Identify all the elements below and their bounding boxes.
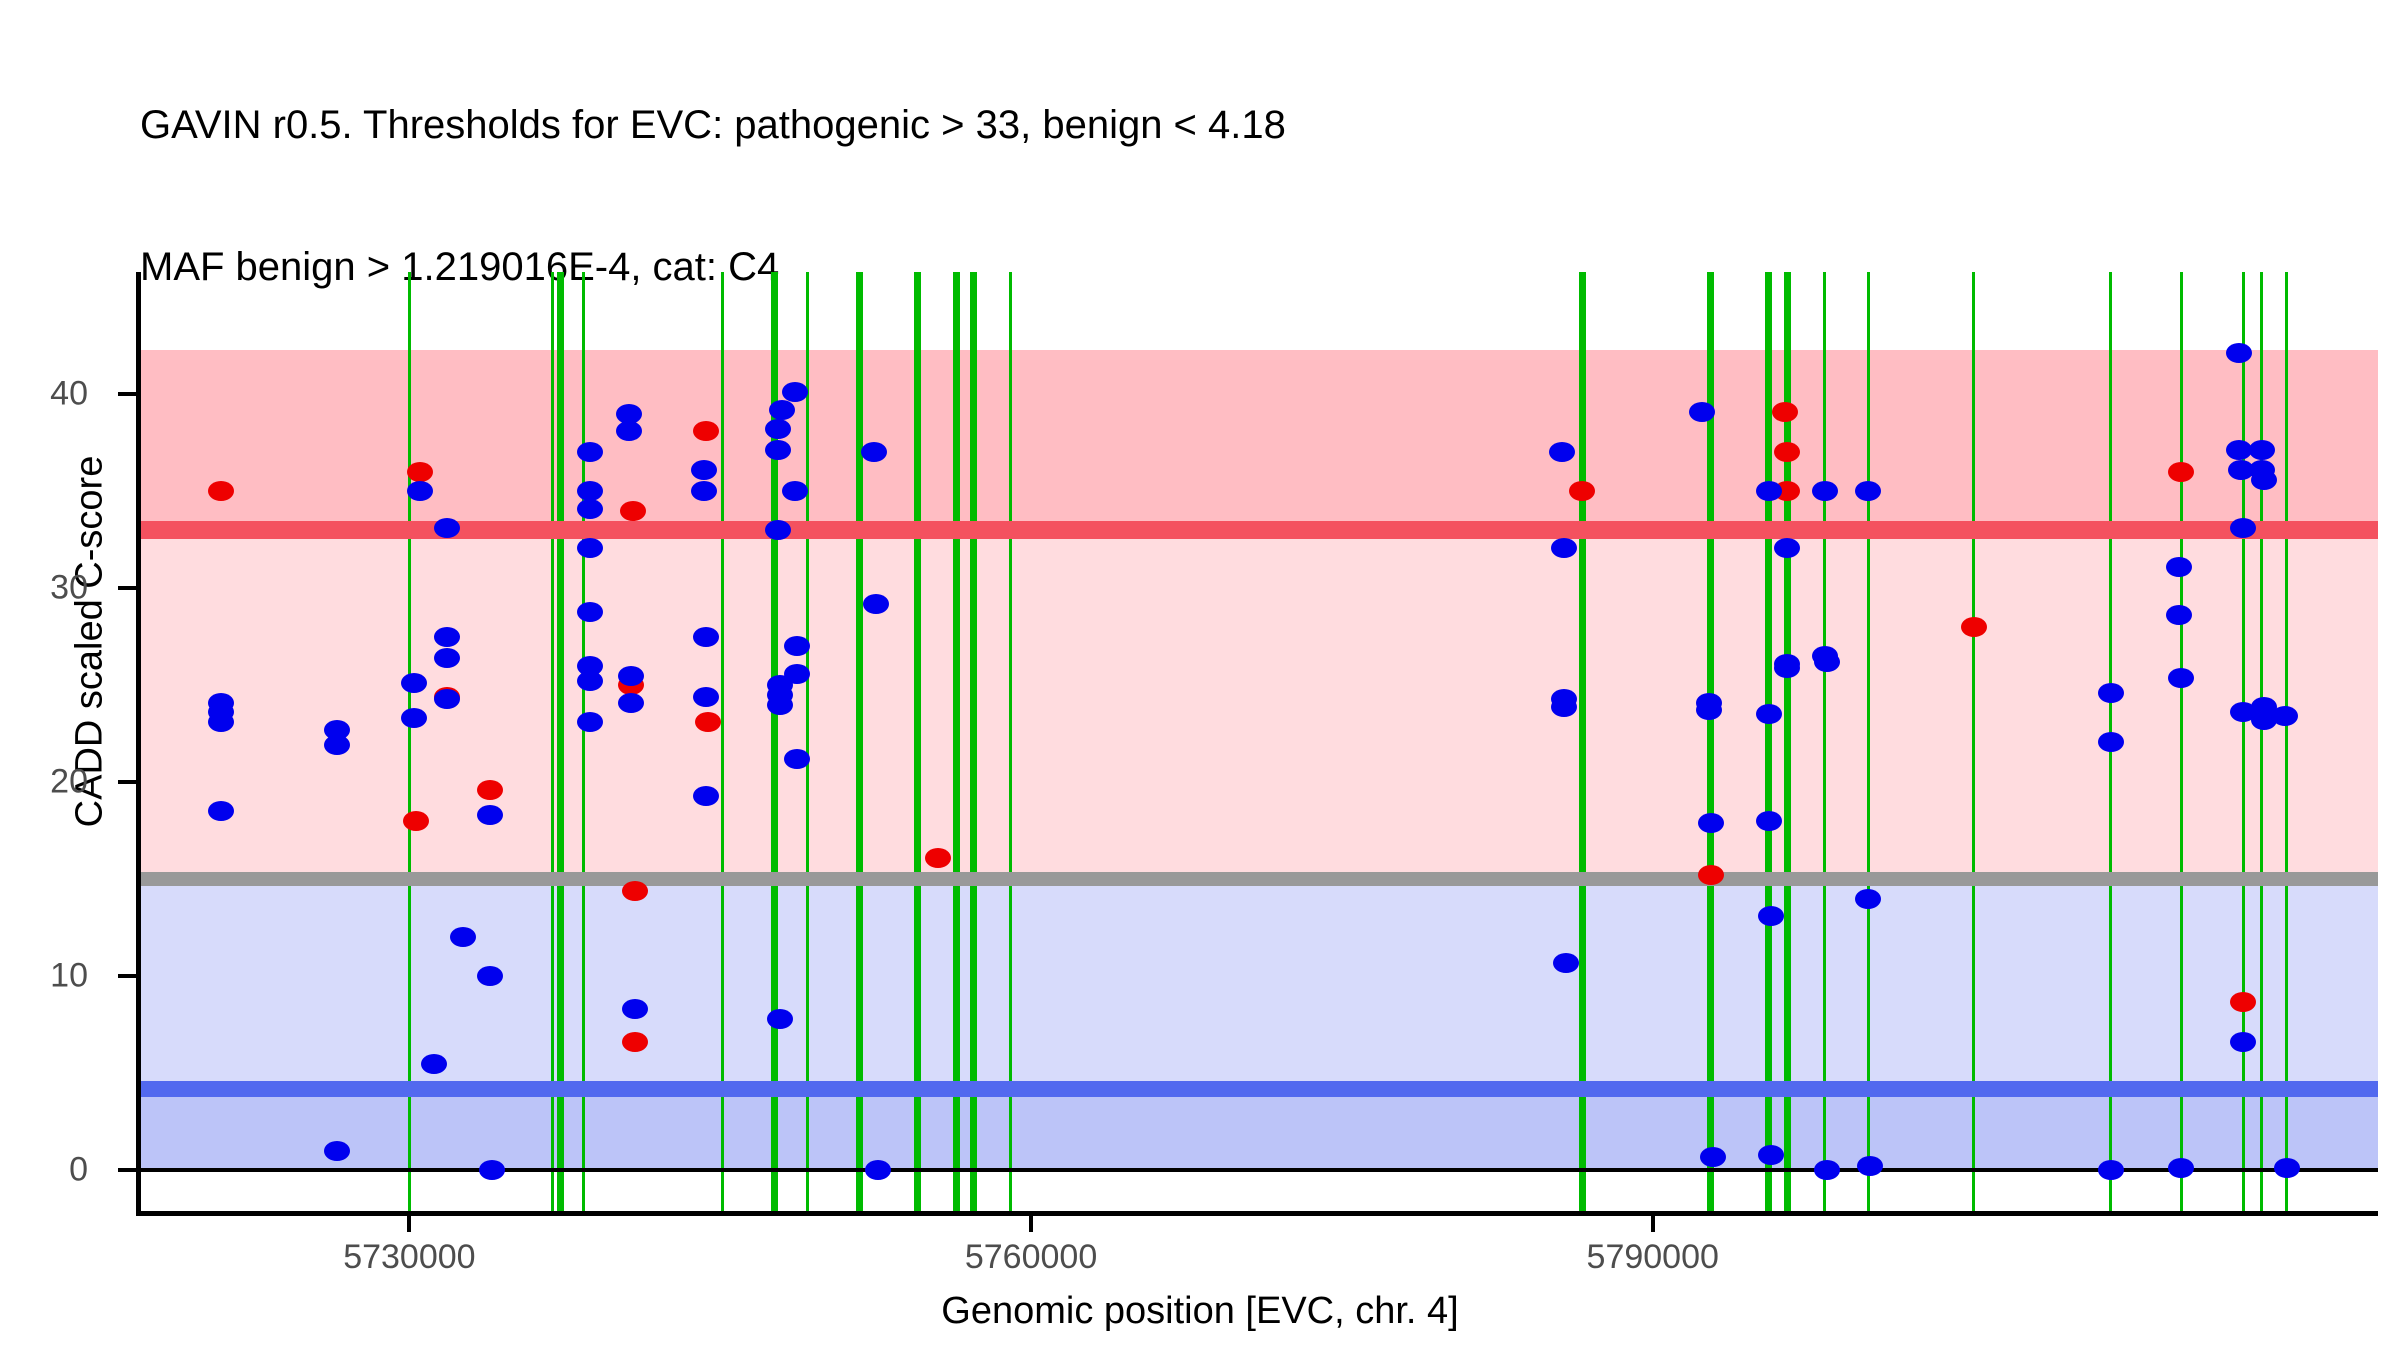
data-point-benign xyxy=(2274,1158,2300,1178)
data-point-pathogenic xyxy=(2168,462,2194,482)
y-axis-tick xyxy=(118,392,136,396)
exon-line xyxy=(721,272,724,1213)
exon-line xyxy=(1765,272,1772,1213)
data-point-benign xyxy=(865,1160,891,1180)
data-point-benign xyxy=(769,400,795,420)
data-point-benign xyxy=(618,666,644,686)
data-point-benign xyxy=(324,1141,350,1161)
data-point-benign xyxy=(577,538,603,558)
data-point-benign xyxy=(208,712,234,732)
data-point-benign xyxy=(1551,697,1577,717)
y-axis-tick-label: 40 xyxy=(0,375,88,414)
exon-line xyxy=(2180,272,2183,1213)
data-point-benign xyxy=(401,673,427,693)
exon-line xyxy=(557,272,564,1213)
x-axis-tick-label: 5790000 xyxy=(1587,1238,1719,1277)
data-point-benign xyxy=(2166,557,2192,577)
data-point-benign xyxy=(1553,953,1579,973)
exon-line xyxy=(1009,272,1012,1213)
band-benign-lower xyxy=(140,1089,2378,1170)
data-point-benign xyxy=(618,693,644,713)
data-point-benign xyxy=(2251,470,2277,490)
data-point-benign xyxy=(1758,906,1784,926)
data-point-pathogenic xyxy=(403,811,429,831)
exon-line xyxy=(1867,272,1870,1213)
data-point-benign xyxy=(1857,1156,1883,1176)
data-point-pathogenic xyxy=(925,848,951,868)
data-point-benign xyxy=(577,499,603,519)
exon-line xyxy=(582,272,585,1213)
data-point-benign xyxy=(861,442,887,462)
pathogenic-threshold-line xyxy=(140,521,2378,539)
exon-line xyxy=(953,272,960,1213)
data-point-benign xyxy=(2098,1160,2124,1180)
exon-line xyxy=(914,272,921,1213)
zero-baseline xyxy=(140,1168,2378,1172)
data-point-pathogenic xyxy=(622,881,648,901)
exon-line xyxy=(806,272,809,1213)
data-point-benign xyxy=(693,786,719,806)
y-axis-tick xyxy=(118,780,136,784)
data-point-benign xyxy=(782,382,808,402)
x-axis-tick-label: 5730000 xyxy=(343,1238,475,1277)
data-point-benign xyxy=(1774,658,1800,678)
x-axis-line xyxy=(136,1211,2378,1216)
y-axis-tick-label: 0 xyxy=(0,1151,88,1190)
exon-line xyxy=(970,272,977,1213)
data-point-benign xyxy=(1549,442,1575,462)
data-point-benign xyxy=(2168,1158,2194,1178)
data-point-benign xyxy=(577,602,603,622)
exon-line xyxy=(2260,272,2263,1213)
data-point-benign xyxy=(577,712,603,732)
band-pathogenic-lower xyxy=(140,530,2378,879)
data-point-benign xyxy=(1774,538,1800,558)
data-point-benign xyxy=(1855,889,1881,909)
data-point-benign xyxy=(2098,732,2124,752)
data-point-benign xyxy=(1756,811,1782,831)
y-axis-tick-label: 30 xyxy=(0,569,88,608)
data-point-benign xyxy=(1700,1147,1726,1167)
data-point-benign xyxy=(434,518,460,538)
y-axis-tick xyxy=(118,1168,136,1172)
data-point-pathogenic xyxy=(1961,617,1987,637)
data-point-benign xyxy=(1551,538,1577,558)
data-point-benign xyxy=(691,481,717,501)
y-axis-tick-label: 10 xyxy=(0,957,88,996)
data-point-pathogenic xyxy=(695,712,721,732)
x-axis-tick xyxy=(1029,1216,1033,1232)
data-point-pathogenic xyxy=(407,462,433,482)
data-point-pathogenic xyxy=(620,501,646,521)
x-axis-tick xyxy=(407,1216,411,1232)
y-axis-line xyxy=(136,272,141,1213)
data-point-benign xyxy=(2272,706,2298,726)
exon-line xyxy=(2285,272,2288,1213)
scatter-chart: CADD scaled C-score Genomic position [EV… xyxy=(0,0,2400,1350)
data-point-pathogenic xyxy=(208,481,234,501)
plot-area xyxy=(140,272,2378,1213)
data-point-benign xyxy=(434,689,460,709)
data-point-benign xyxy=(616,421,642,441)
exon-line xyxy=(408,272,411,1213)
data-point-benign xyxy=(784,664,810,684)
data-point-benign xyxy=(1689,402,1715,422)
data-point-benign xyxy=(1756,481,1782,501)
data-point-benign xyxy=(407,481,433,501)
data-point-benign xyxy=(784,749,810,769)
exon-line xyxy=(1823,272,1826,1213)
benign-threshold-line xyxy=(140,1081,2378,1097)
exon-line xyxy=(1579,272,1586,1213)
data-point-benign xyxy=(434,648,460,668)
exon-line xyxy=(856,272,863,1213)
data-point-benign xyxy=(767,695,793,715)
fallback-threshold-line xyxy=(140,872,2378,886)
data-point-pathogenic xyxy=(1772,402,1798,422)
data-point-benign xyxy=(434,627,460,647)
data-point-benign xyxy=(577,671,603,691)
x-axis-tick-label: 5760000 xyxy=(965,1238,1097,1277)
data-point-benign xyxy=(1814,652,1840,672)
data-point-pathogenic xyxy=(2230,992,2256,1012)
x-axis-title: Genomic position [EVC, chr. 4] xyxy=(0,1290,2400,1333)
band-benign-upper xyxy=(140,879,2378,1089)
data-point-benign xyxy=(1698,813,1724,833)
x-axis-tick xyxy=(1651,1216,1655,1232)
data-point-benign xyxy=(691,460,717,480)
data-point-benign xyxy=(693,687,719,707)
exon-line xyxy=(2242,272,2245,1213)
data-point-benign xyxy=(863,594,889,614)
data-point-benign xyxy=(401,708,427,728)
data-point-benign xyxy=(782,481,808,501)
data-point-pathogenic xyxy=(693,421,719,441)
y-axis-tick xyxy=(118,974,136,978)
exon-line xyxy=(1972,272,1975,1213)
y-axis-tick-label: 20 xyxy=(0,763,88,802)
data-point-benign xyxy=(1814,1160,1840,1180)
band-pathogenic-upper xyxy=(140,350,2378,530)
data-point-benign xyxy=(479,1160,505,1180)
data-point-benign xyxy=(1812,481,1838,501)
data-point-benign xyxy=(693,627,719,647)
exon-line xyxy=(551,272,554,1213)
data-point-benign xyxy=(421,1054,447,1074)
data-point-benign xyxy=(1758,1145,1784,1165)
data-point-benign xyxy=(2168,668,2194,688)
data-point-benign xyxy=(2098,683,2124,703)
y-axis-tick xyxy=(118,586,136,590)
